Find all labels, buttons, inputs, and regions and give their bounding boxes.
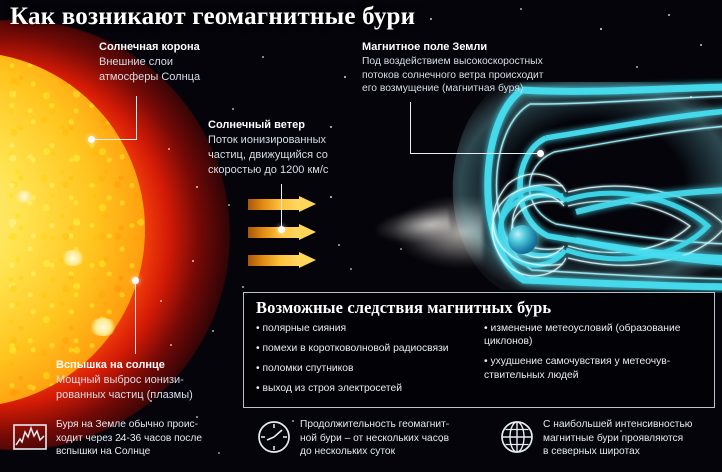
callout-solar-wind-line2: частиц, движущийся со xyxy=(208,148,378,163)
callout-magnetic-field-heading: Магнитное поле Земли xyxy=(362,40,590,55)
fact-line: в северных широтах xyxy=(543,445,692,459)
fact-storm-duration: Продолжительность геомагнит- ной бури – … xyxy=(250,412,495,472)
fact-line: Буря на Земле обычно проис- xyxy=(56,418,202,432)
fact-storm-duration-text: Продолжительность геомагнит- ной бури – … xyxy=(300,417,449,459)
callout-solar-flare: Вспышка на солнце Мощный выброс иониз­и-… xyxy=(56,358,236,403)
consequences-left-column: • полярные сияния • помехи в коротковолн… xyxy=(256,322,470,402)
sun-bright-spot xyxy=(60,250,86,266)
consequence-item: • помехи в коротковолновой радиосвязи xyxy=(256,342,470,355)
consequences-panel: Возможные следствия магнитных бурь • пол… xyxy=(243,292,715,408)
consequence-text: поломки спутников xyxy=(262,363,353,374)
consequence-item: • полярные сияния xyxy=(256,322,470,335)
page-title: Как возникают геомагнитные бури xyxy=(10,3,415,31)
callout-solar-corona-heading: Солнечная корона xyxy=(99,40,249,55)
callout-earth-magnetic-field: Магнитное поле Земли Под воздействием вы… xyxy=(362,40,590,96)
bullet-glyph: • xyxy=(256,383,260,394)
consequence-text: выход из строя электросетей xyxy=(262,383,402,394)
magnetosphere-field-lines xyxy=(408,78,722,293)
bullet-glyph: • xyxy=(256,363,260,374)
callout-solar-corona-line1: Внешние слои xyxy=(99,55,249,70)
callout-magnetic-field-line3: его возмущение (магнитная буря) xyxy=(362,82,590,96)
solar-wind-arrow xyxy=(248,252,316,269)
fact-line: до нескольких суток xyxy=(300,445,449,459)
consequences-title: Возможные следствия магнитных бурь xyxy=(244,293,714,322)
fact-northern-latitudes-text: С наибольшей интенсивностью магнитные бу… xyxy=(543,417,692,459)
callout-magnetic-field-line2: потоков солнечного ветра происходит xyxy=(362,69,590,83)
consequences-right-column: • изменение метеоусловий (образование ци… xyxy=(478,322,706,402)
bullet-glyph: • xyxy=(484,356,488,367)
consequence-item: • ухудшение самочувствия у метеочув-стви… xyxy=(484,355,706,382)
bullet-glyph: • xyxy=(256,323,260,334)
callout-solar-wind-heading: Солнечный ветер xyxy=(208,118,378,133)
callout-solar-wind: Солнечный ветер Поток ионизированных час… xyxy=(208,118,378,178)
callout-magnetic-field-line1: Под воздействием высокоскоростных xyxy=(362,55,590,69)
callout-solar-corona-line2: атмосферы Солнца xyxy=(99,70,249,85)
callout-solar-flare-line2: рованных частиц (плазмы) xyxy=(56,388,236,403)
bullet-glyph: • xyxy=(256,343,260,354)
consequence-item: • выход из строя электросетей xyxy=(256,382,470,395)
globe-icon xyxy=(499,419,535,455)
facts-row: Буря на Земле обычно проис- ходит через … xyxy=(0,412,722,472)
callout-solar-wind-line3: скоростью до 1200 км/с xyxy=(208,163,378,178)
consequence-text: ухудшение самочувствия у метеочув-ствите… xyxy=(484,356,670,380)
clock-icon xyxy=(256,419,292,455)
callout-solar-flare-heading: Вспышка на солнце xyxy=(56,358,236,373)
fact-line: Продолжительность геомагнит- xyxy=(300,418,449,432)
infographic-canvas: Как возникают геомагнитные бури Солнечна… xyxy=(0,0,722,472)
sun-bright-spot xyxy=(14,190,34,203)
fact-storm-delay-text: Буря на Земле обычно проис- ходит через … xyxy=(56,417,202,459)
consequence-text: помехи в коротковолновой радиосвязи xyxy=(262,343,448,354)
callout-solar-wind-line1: Поток ионизированных xyxy=(208,133,378,148)
bullet-glyph: • xyxy=(484,323,488,334)
fact-line: ной бури – от нескольких часов xyxy=(300,432,449,446)
consequence-item: • поломки спутников xyxy=(256,362,470,375)
callout-solar-corona: Солнечная корона Внешние слои атмосферы … xyxy=(99,40,249,85)
consequence-text: изменение метеоусловий (образование цикл… xyxy=(484,323,680,347)
fact-line: ходит через 24-36 часов после xyxy=(56,432,202,446)
fact-line: магнитные бури проявляются xyxy=(543,432,692,446)
fact-line: вспышки на Солнце xyxy=(56,445,202,459)
consequence-item: • изменение метеоусловий (образование ци… xyxy=(484,322,706,349)
earth-globe xyxy=(508,225,537,254)
chart-graph-icon xyxy=(12,419,48,455)
consequence-text: полярные сияния xyxy=(262,323,346,334)
callout-solar-flare-line1: Мощный выброс иониз­и- xyxy=(56,373,236,388)
sun-bright-spot xyxy=(88,318,118,336)
fact-northern-latitudes: С наибольшей интенсивностью магнитные бу… xyxy=(495,412,722,472)
fact-line: С наибольшей интенсивностью xyxy=(543,418,692,432)
fact-storm-delay: Буря на Земле обычно проис- ходит через … xyxy=(0,412,250,472)
